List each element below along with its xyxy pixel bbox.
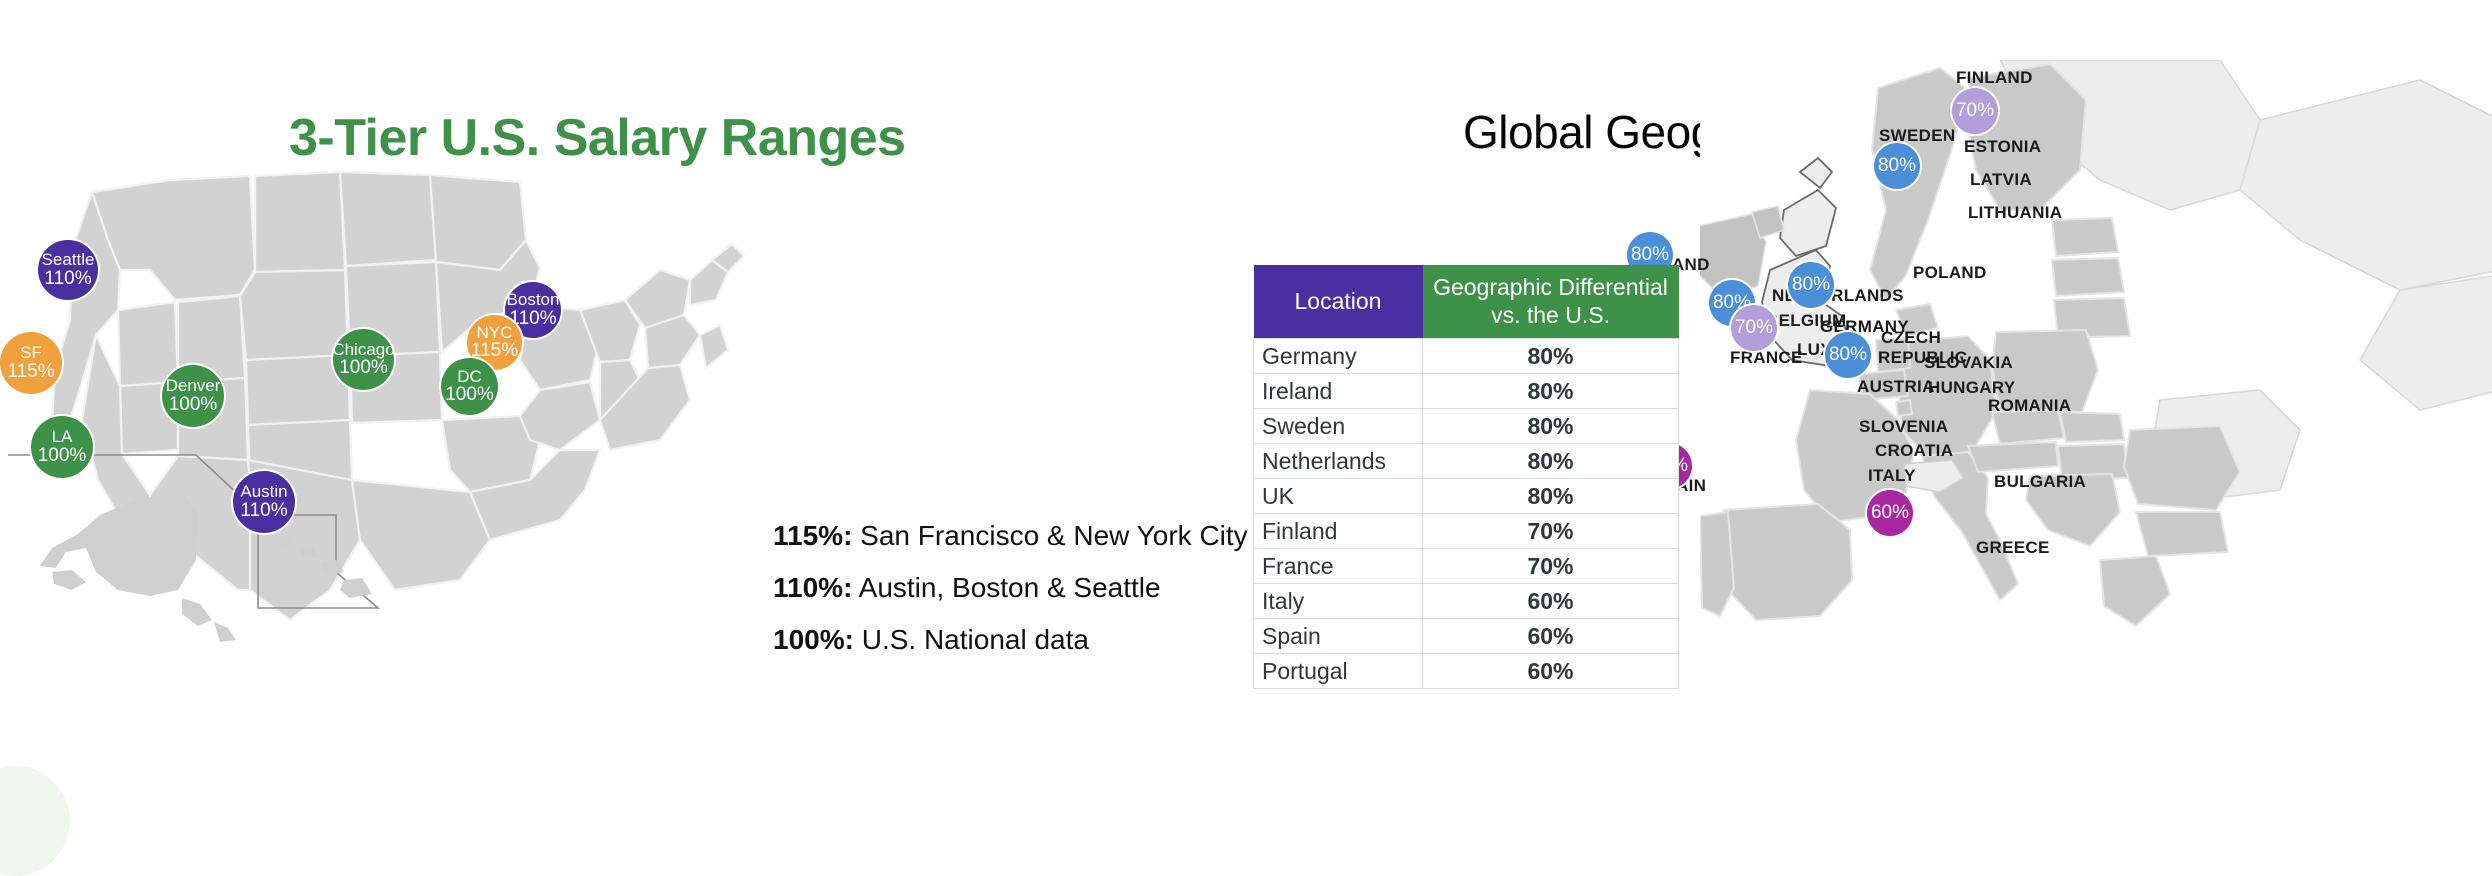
table-row: France 70% [1254, 549, 1679, 584]
cell-differential-ireland: 80% [1423, 374, 1679, 409]
table-row: UK 80% [1254, 479, 1679, 514]
table-body: Germany 80% Ireland 80% Sweden 80% Nethe… [1254, 339, 1679, 689]
cell-differential-spain: 60% [1423, 619, 1679, 654]
marker-value-sweden: 80% [1878, 156, 1916, 176]
table-header-location: Location [1254, 265, 1423, 339]
table-row: Netherlands 80% [1254, 444, 1679, 479]
marker-italy[interactable]: 60% [1867, 490, 1913, 536]
legend-desc-100: U.S. National data [854, 624, 1089, 655]
geographic-differential-table: Location Geographic Differential vs. the… [1253, 265, 1679, 689]
cell-location-netherlands: Netherlands [1254, 444, 1423, 479]
marker-label-la: LA [52, 428, 73, 446]
marker-chicago[interactable]: Chicago 100% [333, 329, 394, 390]
marker-label-seattle: Seattle [42, 251, 95, 269]
marker-value-italy: 60% [1871, 503, 1909, 523]
cell-location-france: France [1254, 549, 1423, 584]
cell-differential-sweden: 80% [1423, 409, 1679, 444]
table-row: Sweden 80% [1254, 409, 1679, 444]
legend-pct-100: 100%: [773, 624, 854, 655]
table-row: Finland 70% [1254, 514, 1679, 549]
cell-differential-italy: 60% [1423, 584, 1679, 619]
cell-location-italy: Italy [1254, 584, 1423, 619]
marker-value-netherlands: 80% [1792, 275, 1830, 295]
europe-map-markers: 70% 80% 80% 80% 80% 80% 70% 60% [1700, 60, 2492, 780]
legend-desc-110: Austin, Boston & Seattle [852, 572, 1160, 603]
marker-label-austin: Austin [240, 483, 287, 501]
marker-label-boston: Boston [507, 291, 560, 309]
marker-value-germany: 80% [1829, 345, 1867, 365]
cell-differential-germany: 80% [1423, 339, 1679, 374]
table-header-differential-line1: Geographic Differential [1429, 274, 1673, 302]
marker-label-dc: DC [457, 368, 482, 386]
marker-value-france: 70% [1735, 318, 1773, 338]
marker-seattle[interactable]: Seattle 110% [38, 240, 98, 300]
marker-la[interactable]: LA 100% [31, 416, 93, 478]
marker-label-nyc: NYC [477, 324, 513, 342]
cell-differential-finland: 70% [1423, 514, 1679, 549]
marker-value-chicago: 100% [339, 358, 388, 378]
cell-location-germany: Germany [1254, 339, 1423, 374]
marker-value-ireland: 80% [1631, 245, 1669, 265]
marker-label-denver: Denver [166, 377, 221, 395]
table-row: Portugal 60% [1254, 654, 1679, 689]
marker-value-austin: 110% [240, 501, 287, 521]
marker-denver[interactable]: Denver 100% [162, 365, 224, 427]
cell-location-spain: Spain [1254, 619, 1423, 654]
us-map [0, 120, 790, 740]
marker-value-dc: 100% [445, 385, 494, 405]
slide-canvas: 3-Tier U.S. Salary Ranges [0, 0, 2492, 874]
table-row: Germany 80% [1254, 339, 1679, 374]
marker-value-sf: 115% [7, 362, 54, 382]
marker-netherlands[interactable]: 80% [1788, 262, 1834, 308]
marker-sf[interactable]: SF 115% [0, 332, 62, 394]
cell-location-uk: UK [1254, 479, 1423, 514]
marker-finland[interactable]: 70% [1952, 88, 1998, 134]
cell-location-ireland: Ireland [1254, 374, 1423, 409]
cell-differential-uk: 80% [1423, 479, 1679, 514]
cell-location-finland: Finland [1254, 514, 1423, 549]
cell-location-portugal: Portugal [1254, 654, 1423, 689]
table-header-differential: Geographic Differential vs. the U.S. [1423, 265, 1679, 339]
marker-france[interactable]: 70% [1731, 305, 1777, 351]
marker-label-chicago: Chicago [332, 341, 394, 359]
legend-pct-115: 115%: [773, 520, 852, 551]
table-row: Italy 60% [1254, 584, 1679, 619]
marker-sweden[interactable]: 80% [1874, 143, 1920, 189]
marker-austin[interactable]: Austin 110% [233, 471, 295, 533]
table-row: Ireland 80% [1254, 374, 1679, 409]
decorative-arc [0, 766, 70, 876]
marker-germany[interactable]: 80% [1825, 332, 1871, 378]
cell-differential-portugal: 60% [1423, 654, 1679, 689]
marker-value-la: 100% [38, 446, 87, 466]
legend-item-115: 115%: San Francisco & New York City [773, 520, 1248, 552]
cell-location-sweden: Sweden [1254, 409, 1423, 444]
marker-value-seattle: 110% [44, 269, 91, 289]
legend-item-110: 110%: Austin, Boston & Seattle [773, 572, 1248, 604]
table-head: Location Geographic Differential vs. the… [1254, 265, 1679, 339]
table-row: Spain 60% [1254, 619, 1679, 654]
cell-differential-france: 70% [1423, 549, 1679, 584]
table-header-differential-line2: vs. the U.S. [1429, 302, 1673, 330]
marker-label-sf: SF [20, 344, 42, 362]
us-salary-legend: 115%: San Francisco & New York City 110%… [773, 520, 1248, 676]
table-header-row: Location Geographic Differential vs. the… [1254, 265, 1679, 339]
legend-pct-110: 110%: [773, 572, 852, 603]
marker-value-finland: 70% [1956, 101, 1994, 121]
cell-differential-netherlands: 80% [1423, 444, 1679, 479]
legend-desc-115: San Francisco & New York City [852, 520, 1247, 551]
legend-item-100: 100%: U.S. National data [773, 624, 1248, 656]
marker-dc[interactable]: DC 100% [441, 358, 498, 415]
marker-value-denver: 100% [169, 395, 218, 415]
